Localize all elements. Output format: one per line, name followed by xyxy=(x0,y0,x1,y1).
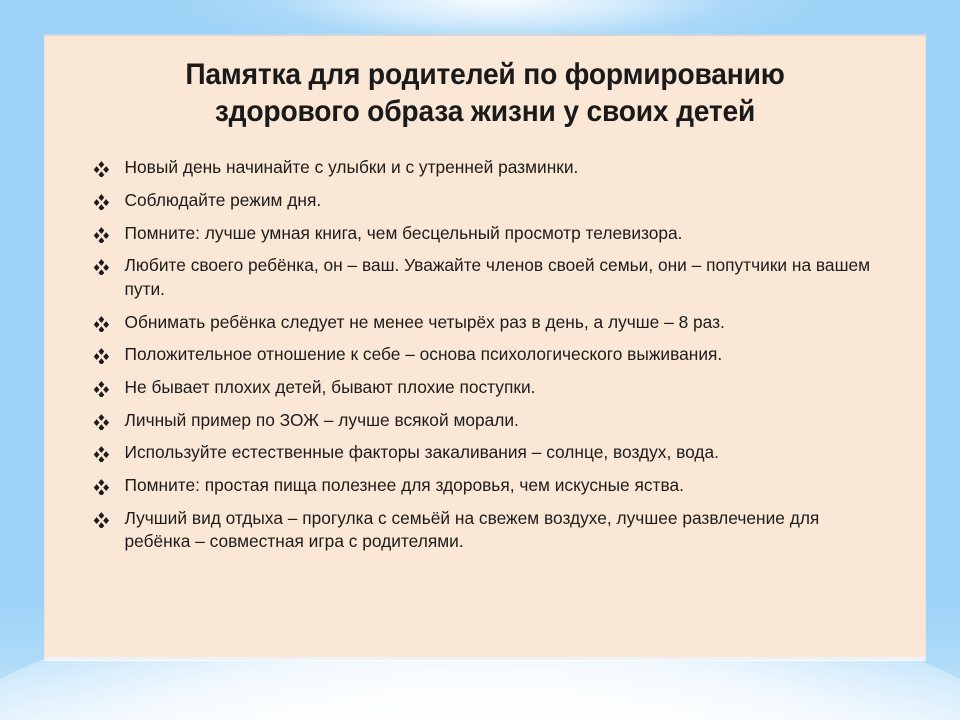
list-item: Не бывает плохих детей, бывают плохие по… xyxy=(93,376,887,400)
slide: Памятка для родителей по формированию зд… xyxy=(0,0,960,720)
list-item: Помните: простая пища полезнее для здоро… xyxy=(93,474,887,498)
list-item: Помните: лучше умная книга, чем бесцельн… xyxy=(93,222,887,246)
list-item-text: Обнимать ребёнка следует не менее четырё… xyxy=(125,312,725,332)
title-line-1: Памятка для родителей по формированию xyxy=(103,56,866,93)
list-item-text: Лучший вид отдыха – прогулка с семьёй на… xyxy=(125,508,820,552)
slide-title: Памятка для родителей по формированию зд… xyxy=(45,36,925,130)
diamond-cluster-bullet-icon xyxy=(93,347,110,364)
list-item: Любите своего ребёнка, он – ваш. Уважайт… xyxy=(93,254,887,301)
list-item: Новый день начинайте с улыбки и с утренн… xyxy=(93,156,887,180)
list-item-text: Используйте естественные факторы закалив… xyxy=(125,442,719,462)
content-panel: Памятка для родителей по формированию зд… xyxy=(44,34,926,660)
list-item: Лучший вид отдыха – прогулка с семьёй на… xyxy=(93,507,887,554)
diamond-cluster-bullet-icon xyxy=(93,445,110,462)
list-item: Обнимать ребёнка следует не менее четырё… xyxy=(93,311,887,335)
list-item: Положительное отношение к себе – основа … xyxy=(93,343,887,367)
diamond-cluster-bullet-icon xyxy=(93,258,110,275)
list-item-text: Новый день начинайте с улыбки и с утренн… xyxy=(125,157,579,177)
diamond-cluster-bullet-icon xyxy=(93,511,110,528)
title-line-2: здорового образа жизни у своих детей xyxy=(103,93,866,130)
list-item-text: Положительное отношение к себе – основа … xyxy=(125,344,723,364)
list-item: Соблюдайте режим дня. xyxy=(93,189,887,213)
list-item-text: Не бывает плохих детей, бывают плохие по… xyxy=(125,377,536,397)
list-item-text: Любите своего ребёнка, он – ваш. Уважайт… xyxy=(125,255,871,299)
list-item: Личный пример по ЗОЖ – лучше всякой мора… xyxy=(93,409,887,433)
diamond-cluster-bullet-icon xyxy=(93,478,110,495)
diamond-cluster-bullet-icon xyxy=(93,413,110,430)
diamond-cluster-bullet-icon xyxy=(93,315,110,332)
diamond-cluster-bullet-icon xyxy=(93,226,110,243)
list-item-text: Помните: лучше умная книга, чем бесцельн… xyxy=(125,223,683,243)
list-item: Используйте естественные факторы закалив… xyxy=(93,441,887,465)
list-item-text: Личный пример по ЗОЖ – лучше всякой мора… xyxy=(125,410,519,430)
diamond-cluster-bullet-icon xyxy=(93,380,110,397)
recommendation-list: Новый день начинайте с улыбки и с утренн… xyxy=(45,130,925,554)
list-item-text: Соблюдайте режим дня. xyxy=(125,190,322,210)
diamond-cluster-bullet-icon xyxy=(93,193,110,210)
list-item-text: Помните: простая пища полезнее для здоро… xyxy=(125,475,684,495)
diamond-cluster-bullet-icon xyxy=(93,160,110,177)
